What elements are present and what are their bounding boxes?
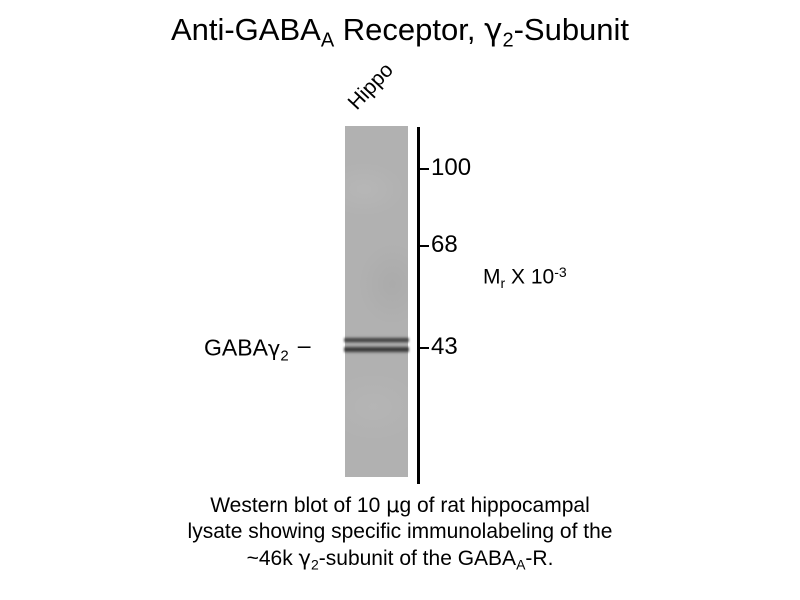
gel-lane (345, 126, 408, 477)
molecular-weight-axis (417, 127, 420, 484)
caption-line3-a: ~46k (247, 547, 299, 570)
tick-mark-100 (420, 168, 429, 170)
tick-label-43: 43 (431, 335, 458, 359)
title-gamma-symbol: γ (484, 12, 502, 48)
tick-label-68: 68 (431, 233, 458, 257)
caption-mu-symbol: μ (386, 493, 399, 517)
caption-subscript-a: A (516, 557, 525, 573)
band-annotation-gamma-subscript: 2 (280, 348, 288, 365)
tick-mark-43 (420, 347, 429, 349)
figure-title: Anti-GABAA Receptor, γ2-Subunit (0, 12, 800, 58)
lane-label-hippo: Hippo (344, 59, 397, 113)
mr-times-ten: X 10 (505, 265, 554, 288)
tick-mark-68 (420, 245, 429, 247)
mr-axis-label: Mr X 10-3 (483, 261, 567, 294)
protein-band-lower (344, 346, 409, 353)
title-suffix: -Subunit (514, 12, 629, 47)
band-annotation-text: GABA (204, 334, 268, 360)
band-annotation-pointer-dash: – (298, 333, 311, 357)
caption-line1-b: g of rat hippocampal (399, 494, 589, 517)
figure-caption: Western blot of 10 μg of rat hippocampal… (0, 492, 800, 578)
western-blot-figure: Anti-GABAA Receptor, γ2-Subunit Hippo 10… (0, 0, 800, 600)
caption-line3-b: -subunit of the GABA (319, 547, 516, 570)
mr-letter-m: M (483, 265, 501, 288)
caption-gamma-subscript: 2 (311, 557, 319, 573)
band-annotation: GABAγ2– (204, 333, 311, 369)
caption-line1-a: Western blot of 10 (210, 494, 386, 517)
title-middle: Receptor, (334, 12, 484, 47)
protein-band-upper (344, 337, 409, 343)
caption-line-2: lysate showing specific immunolabeling o… (0, 519, 800, 545)
tick-label-100: 100 (431, 156, 471, 180)
title-prefix: Anti-GABA (171, 12, 321, 47)
caption-line-3: ~46k γ2-subunit of the GABAA-R. (0, 545, 800, 578)
mr-exponent: -3 (554, 264, 566, 280)
title-gamma-subscript: 2 (502, 29, 513, 51)
caption-line3-c: -R. (525, 547, 553, 570)
caption-line-1: Western blot of 10 μg of rat hippocampal (0, 492, 800, 519)
lane-texture (345, 126, 408, 477)
caption-gamma-symbol: γ (299, 546, 311, 570)
band-annotation-gamma-symbol: γ (268, 336, 280, 360)
title-subscript-a: A (321, 29, 334, 51)
